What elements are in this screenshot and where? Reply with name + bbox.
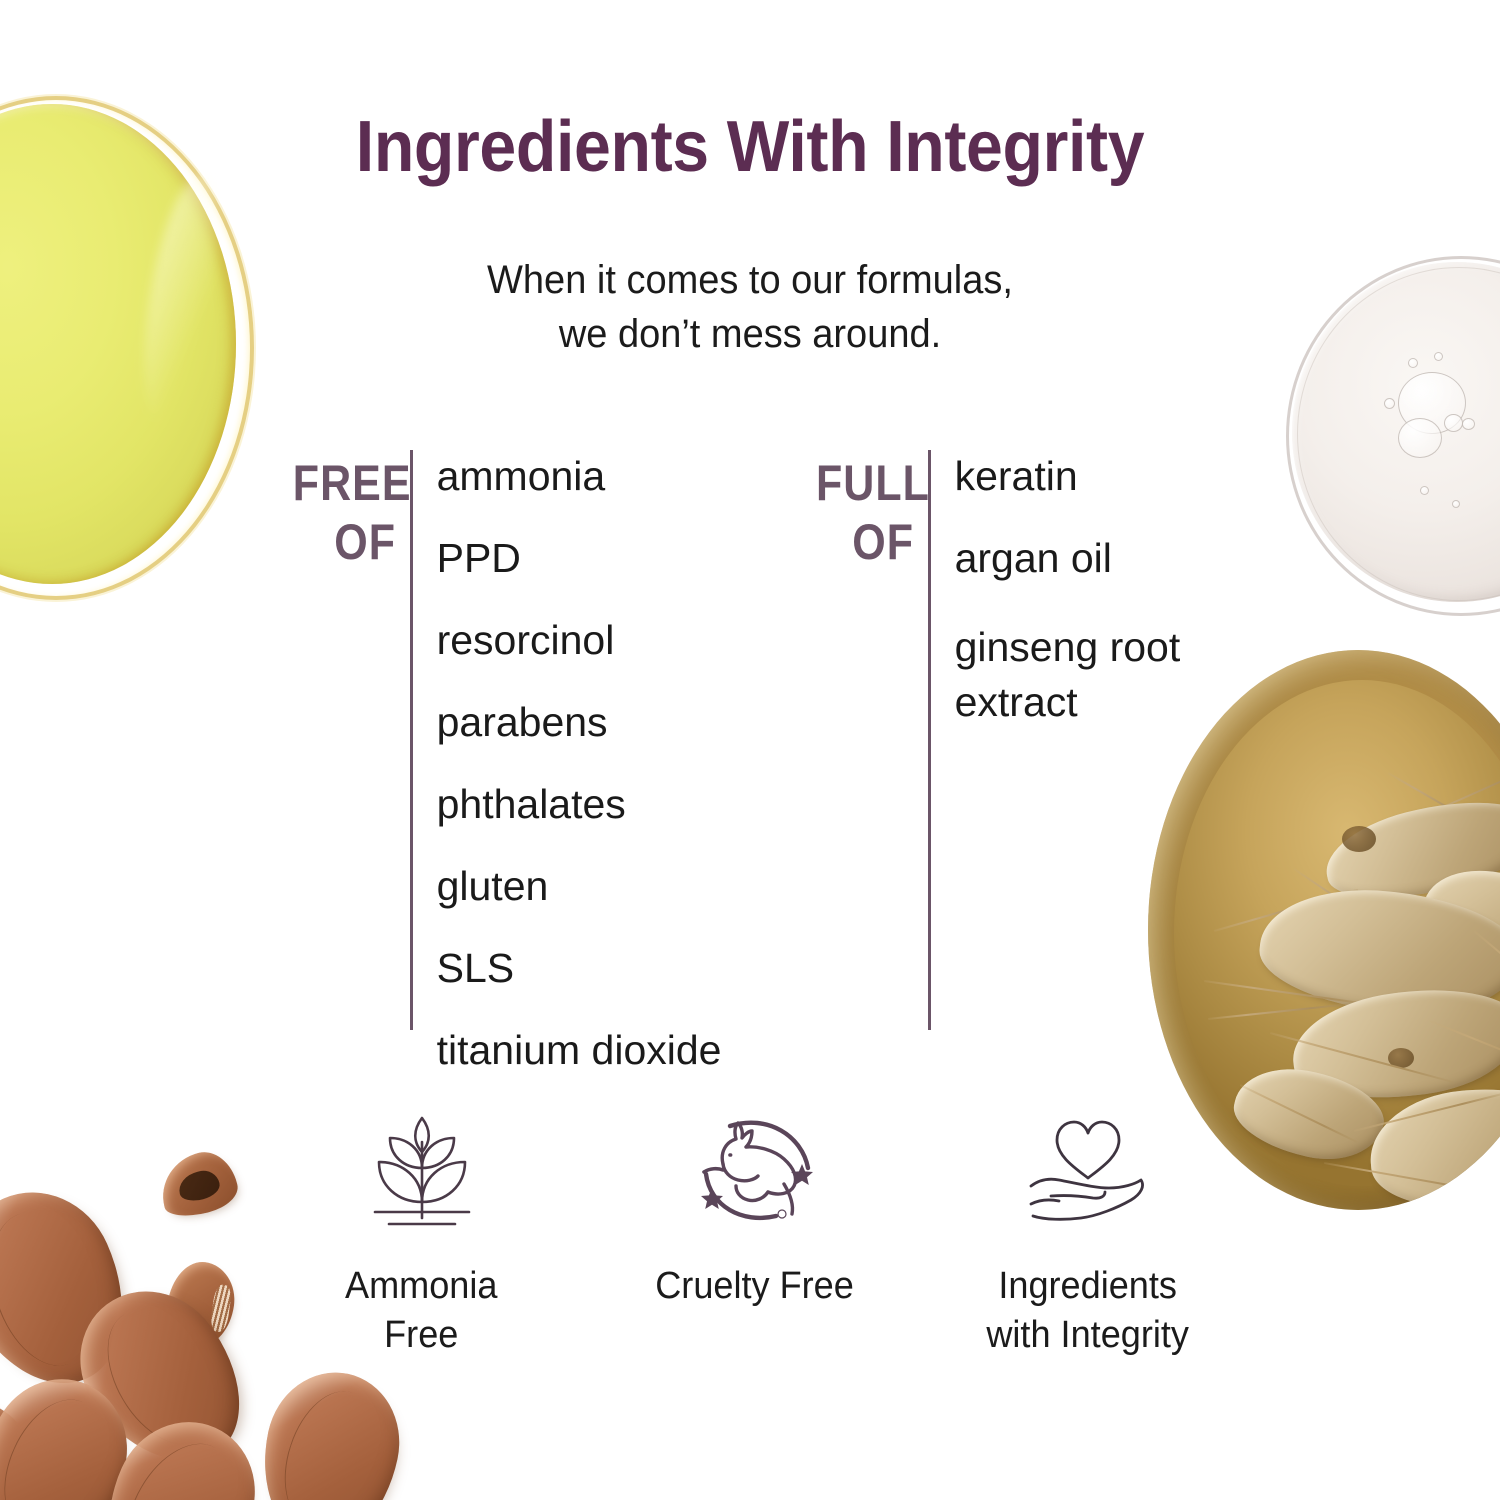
list-item: titanium dioxide bbox=[437, 1030, 722, 1071]
list-item: resorcinol bbox=[437, 620, 722, 661]
badge-label-line-1: Ammonia bbox=[345, 1262, 497, 1311]
infographic-canvas: Ingredients With Integrity When it comes… bbox=[0, 0, 1500, 1500]
list-item: SLS bbox=[437, 948, 722, 989]
free-of-divider bbox=[410, 450, 413, 1030]
badge-ammonia-free-label: Ammonia Free bbox=[345, 1262, 497, 1361]
list-item: argan oil bbox=[955, 538, 1265, 579]
free-of-column: FREE OF ammonia PPD resorcinol parabens … bbox=[276, 450, 721, 1112]
list-item: PPD bbox=[437, 538, 722, 579]
subtitle-line-2: we don’t mess around. bbox=[38, 308, 1463, 362]
list-item: keratin bbox=[955, 456, 1265, 497]
leaping-bunny-icon bbox=[690, 1106, 820, 1236]
badge-label-line-2: with Integrity bbox=[986, 1311, 1189, 1360]
badge-label-line-2: Free bbox=[345, 1311, 497, 1360]
badge-ingredients-integrity: Ingredients with Integrity bbox=[921, 1106, 1254, 1361]
badge-ammonia-free: Ammonia Free bbox=[255, 1106, 588, 1361]
full-of-list: keratin argan oil ginseng root extract bbox=[955, 456, 1265, 730]
list-item: parabens bbox=[437, 702, 722, 743]
full-of-label-line-2: OF bbox=[816, 513, 914, 572]
plant-sprout-icon bbox=[357, 1106, 487, 1236]
badge-ingredients-integrity-label: Ingredients with Integrity bbox=[986, 1262, 1189, 1361]
certification-badges: Ammonia Free bbox=[255, 1106, 1255, 1361]
full-of-label-line-1: FULL bbox=[816, 454, 914, 513]
full-of-divider bbox=[928, 450, 931, 1030]
list-item: gluten bbox=[437, 866, 722, 907]
list-item: ammonia bbox=[437, 456, 722, 497]
badge-label-line-1: Ingredients bbox=[986, 1262, 1189, 1311]
page-title: Ingredients With Integrity bbox=[60, 106, 1440, 188]
badge-cruelty-free: Cruelty Free bbox=[588, 1106, 921, 1361]
subtitle-line-1: When it comes to our formulas, bbox=[38, 254, 1463, 308]
free-of-label: FREE OF bbox=[293, 450, 396, 572]
list-item: phthalates bbox=[437, 784, 722, 825]
free-of-list: ammonia PPD resorcinol parabens phthalat… bbox=[437, 456, 722, 1071]
full-of-column: FULL OF keratin argan oil ginseng root e… bbox=[800, 450, 1265, 1030]
free-of-label-line-1: FREE bbox=[293, 454, 396, 513]
free-of-label-line-2: OF bbox=[293, 513, 396, 572]
heart-in-hand-icon bbox=[1023, 1106, 1153, 1236]
badge-cruelty-free-label: Cruelty Free bbox=[655, 1262, 854, 1311]
full-of-label: FULL OF bbox=[816, 450, 914, 572]
badge-label-line-1: Cruelty Free bbox=[655, 1262, 854, 1311]
list-item: ginseng root extract bbox=[955, 620, 1265, 730]
subtitle: When it comes to our formulas, we don’t … bbox=[38, 254, 1463, 361]
